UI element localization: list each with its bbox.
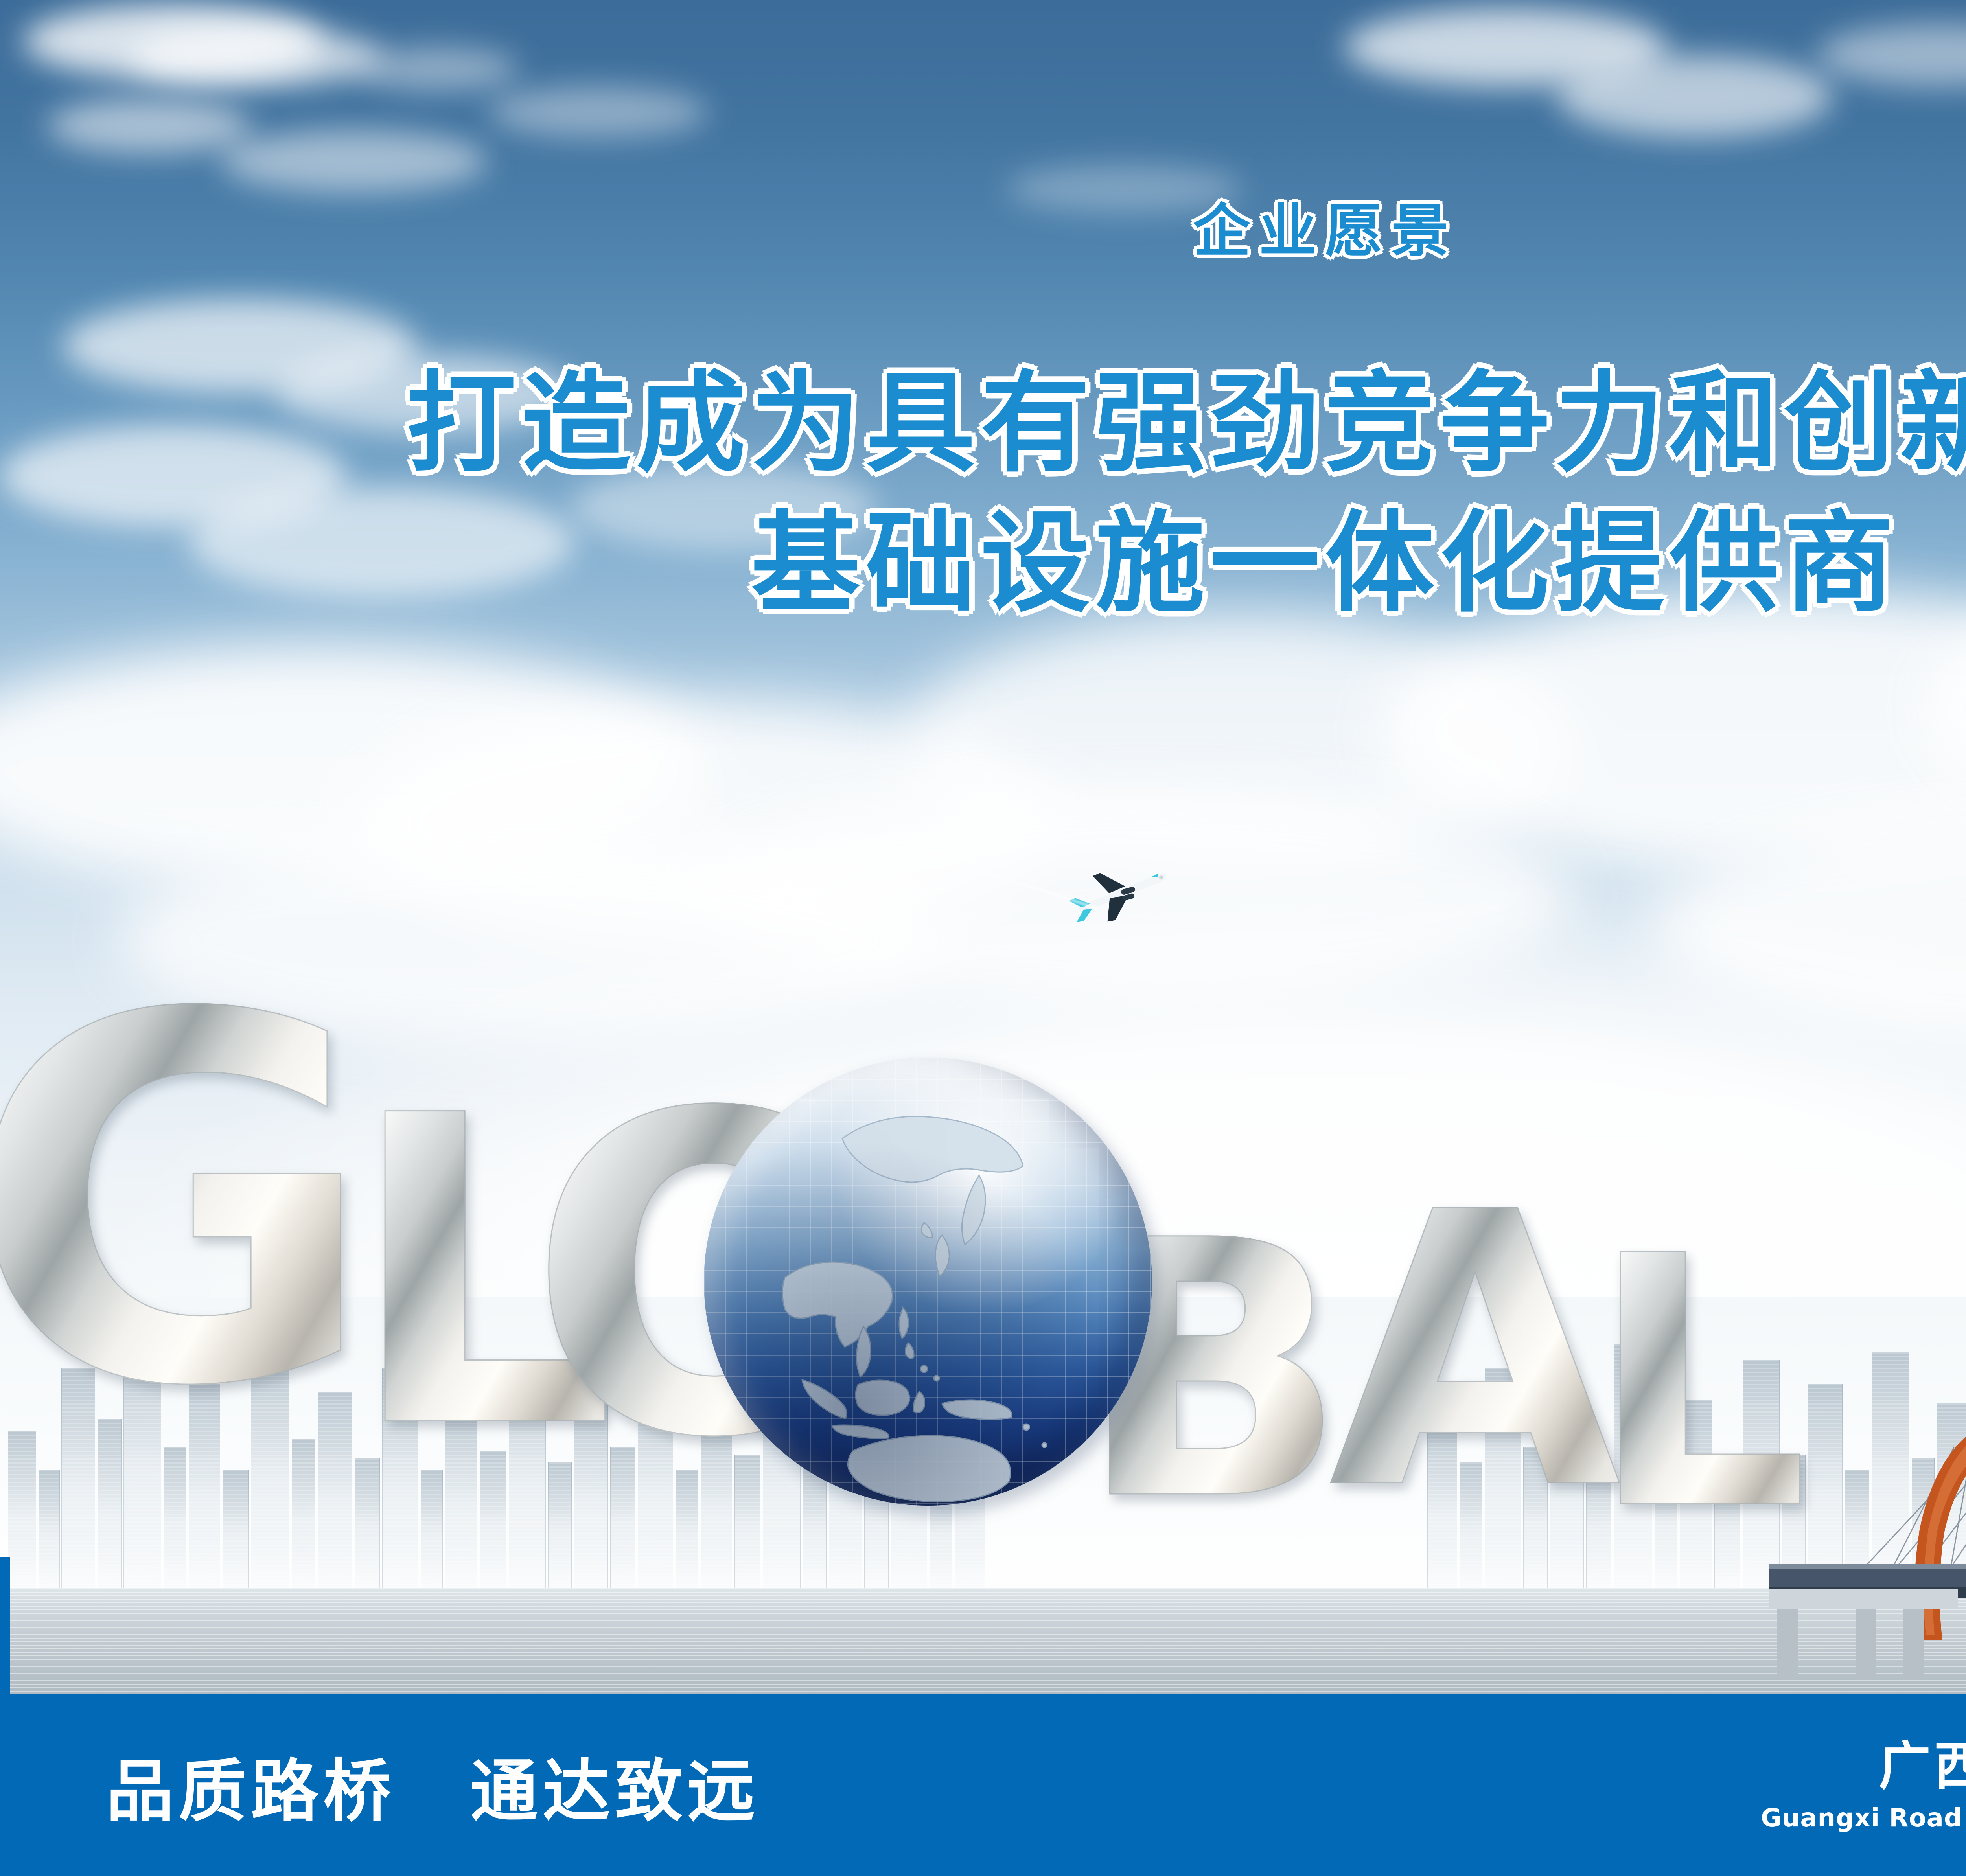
section-label: 企业愿景 bbox=[0, 185, 1966, 268]
letter-g: G bbox=[0, 951, 378, 1455]
poster-canvas: 企业愿景 打造成为具有强劲竞争力和创新力的 基础设施一体化提供商 bbox=[0, 0, 1966, 1876]
globe-shading bbox=[704, 1058, 1152, 1506]
letter-l2: L bbox=[1589, 1211, 1809, 1557]
company-name-cn: 广西路桥工程集团有限公司 bbox=[1761, 1738, 1966, 1796]
slogan-line-1: 打造成为具有强劲竞争力和创新力的 bbox=[0, 354, 1966, 494]
globe-graphic bbox=[704, 1058, 1152, 1506]
company-name-en: Guangxi Road and Bridge Engineering Grou… bbox=[1761, 1804, 1966, 1833]
motto-reach: 通达致远 bbox=[470, 1736, 760, 1834]
company-motto: 品质路桥 通达致远 bbox=[0, 1736, 760, 1834]
vision-slogan: 打造成为具有强劲竞争力和创新力的 基础设施一体化提供商 bbox=[0, 354, 1966, 634]
letter-a: A bbox=[1329, 1164, 1621, 1541]
slogan-line-2: 基础设施一体化提供商 bbox=[0, 494, 1966, 634]
motto-quality: 品质路桥 bbox=[106, 1736, 396, 1834]
airplane-icon bbox=[1062, 857, 1180, 924]
bottom-banner: 品质路桥 通达致远 广西路桥工程集团有限公司 Guangxi Road and … bbox=[0, 1694, 1966, 1876]
company-identity: 广西路桥工程集团有限公司 Guangxi Road and Bridge Eng… bbox=[1761, 1738, 1966, 1833]
